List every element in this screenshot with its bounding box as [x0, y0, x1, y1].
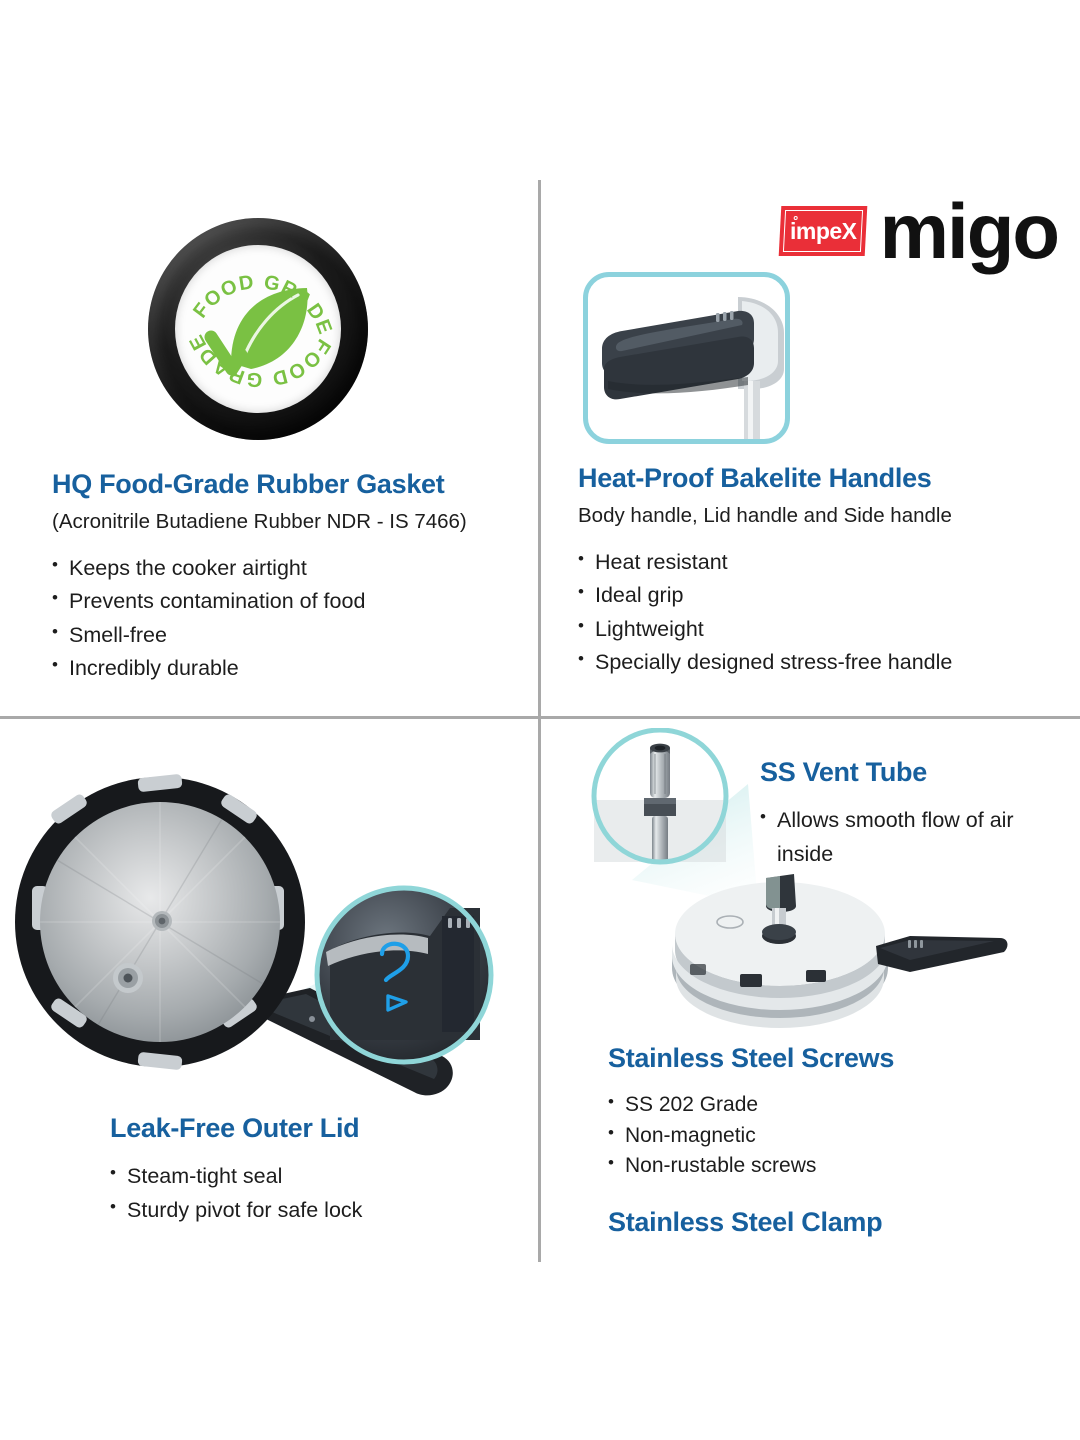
handles-bullet-list: Heat resistant Ideal grip Lightweight Sp…: [578, 546, 1058, 679]
vent-tube-text-block: SS Vent Tube Allows smooth flow of air i…: [760, 756, 1060, 871]
handles-subtitle: Body handle, Lid handle and Side handle: [578, 503, 1058, 530]
infographic-page: impeX migo FOOD GRADE: [0, 0, 1080, 1440]
list-item: Specially designed stress-free handle: [578, 646, 1058, 679]
screws-bullet-list: SS 202 Grade Non-magnetic Non-rustable s…: [608, 1090, 1028, 1181]
impex-dot-icon: [793, 216, 797, 220]
clamp-title: Stainless Steel Clamp: [608, 1206, 1028, 1238]
list-item: Allows smooth flow of air inside: [760, 804, 1060, 871]
screws-title: Stainless Steel Screws: [608, 1042, 1028, 1074]
food-grade-badge-icon: FOOD GRADE FOOD GRADE: [148, 218, 368, 440]
outer-lid-photo: [10, 740, 540, 1105]
impex-wordmark: impeX: [789, 218, 856, 245]
gasket-bullet-list: Keeps the cooker airtight Prevents conta…: [52, 552, 522, 685]
list-item: SS 202 Grade: [608, 1090, 1028, 1120]
outer-lid-icon: [10, 740, 540, 1105]
bakelite-handle-icon: [588, 277, 785, 439]
list-item: Sturdy pivot for safe lock: [110, 1194, 530, 1227]
impex-badge-icon: impeX: [778, 206, 867, 256]
list-item: Lightweight: [578, 613, 1058, 646]
horizontal-divider: [0, 716, 1080, 719]
list-item: Non-magnetic: [608, 1121, 1028, 1151]
gasket-text-block: HQ Food-Grade Rubber Gasket (Acronitrile…: [52, 468, 522, 685]
handles-title: Heat-Proof Bakelite Handles: [578, 462, 1058, 494]
migo-wordmark: migo: [880, 196, 1058, 266]
list-item: Steam-tight seal: [110, 1160, 530, 1193]
food-grade-leaf-icon: FOOD GRADE FOOD GRADE: [175, 245, 341, 413]
vent-tube-title: SS Vent Tube: [760, 756, 1060, 788]
list-item: Non-rustable screws: [608, 1151, 1028, 1181]
badge-inner-disc: FOOD GRADE FOOD GRADE: [175, 245, 341, 413]
outer-lid-bullet-list: Steam-tight seal Sturdy pivot for safe l…: [110, 1160, 530, 1227]
list-item: Heat resistant: [578, 546, 1058, 579]
bakelite-handle-photo-frame: [583, 272, 790, 444]
gasket-title: HQ Food-Grade Rubber Gasket: [52, 468, 522, 500]
list-item: Smell-free: [52, 619, 522, 652]
screws-text-block: Stainless Steel Screws SS 202 Grade Non-…: [608, 1042, 1028, 1238]
outer-lid-text-block: Leak-Free Outer Lid Steam-tight seal Stu…: [110, 1112, 530, 1227]
vent-tube-bullet-list: Allows smooth flow of air inside: [760, 804, 1060, 871]
list-item: Prevents contamination of food: [52, 585, 522, 618]
handles-text-block: Heat-Proof Bakelite Handles Body handle,…: [578, 462, 1058, 679]
brand-logo: impeX migo: [780, 196, 1058, 266]
list-item: Ideal grip: [578, 579, 1058, 612]
list-item: Incredibly durable: [52, 652, 522, 685]
outer-lid-title: Leak-Free Outer Lid: [110, 1112, 530, 1144]
list-item: Keeps the cooker airtight: [52, 552, 522, 585]
gasket-subtitle: (Acronitrile Butadiene Rubber NDR - IS 7…: [52, 509, 522, 536]
